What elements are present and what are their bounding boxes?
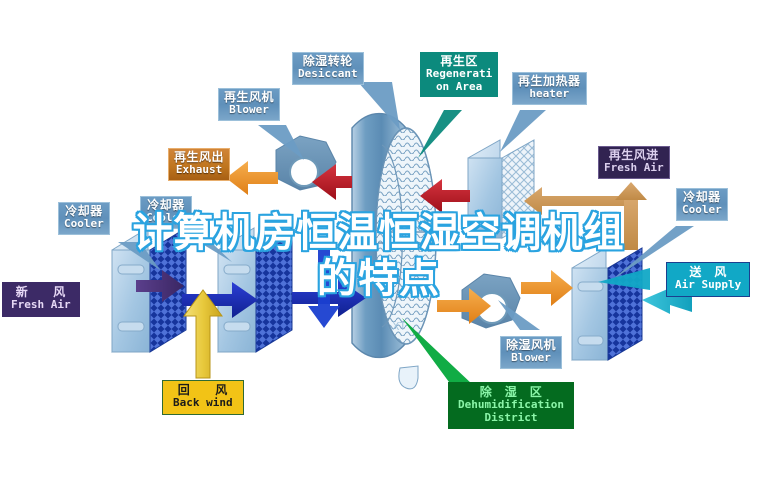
label-back-wind-en: Back wind [173, 397, 233, 409]
label-regeneration-heater: 再生加热器 heater [512, 72, 587, 105]
label-regeneration-fresh-air-cn: 再生风进 [604, 149, 664, 162]
label-cooler-left-1-cn: 冷却器 [64, 205, 104, 218]
diagram-artwork: XT [0, 0, 757, 488]
label-dehumidification-blower-cn: 除湿风机 [506, 339, 556, 352]
svg-text:XT: XT [392, 320, 406, 333]
label-air-supply-en: Air Supply [675, 279, 741, 291]
label-fresh-air: 新 风 Fresh Air [2, 282, 80, 317]
label-dehumidification-district-en2: District [458, 412, 564, 424]
label-regeneration-heater-en: heater [518, 88, 581, 100]
cooler-coil-left-2 [218, 228, 292, 352]
label-back-wind-cn: 回 风 [173, 384, 233, 397]
label-cooler-left-2-en: Cooler [146, 212, 186, 224]
arrow-vertical-blue [308, 246, 340, 328]
label-cooler-left-2: 冷却器 Cooler [140, 196, 192, 229]
label-regeneration-heater-cn: 再生加热器 [518, 75, 581, 88]
label-cooler-right-cn: 冷却器 [682, 191, 722, 204]
label-desiccant-en: Desiccant [298, 68, 358, 80]
label-cooler-right-en: Cooler [682, 204, 722, 216]
label-back-wind: 回 风 Back wind [162, 380, 244, 415]
label-regeneration-exhaust-cn: 再生风出 [174, 151, 224, 164]
arrow-orange-blower-to-coil [521, 270, 573, 306]
label-regeneration-blower-cn: 再生风机 [224, 91, 274, 104]
label-dehumidification-district: 除 湿 区 Dehumidification District [448, 382, 574, 429]
diagram-canvas: XT [0, 0, 757, 488]
label-regeneration-exhaust-en: Exhaust [174, 164, 224, 176]
label-dehumidification-blower: 除湿风机 Blower [500, 336, 562, 369]
label-air-supply-cn: 送 风 [675, 266, 741, 279]
label-regeneration-area-cn: 再生区 [426, 55, 492, 68]
label-regeneration-fresh-air: 再生风进 Fresh Air [598, 146, 670, 179]
label-cooler-left-2-cn: 冷却器 [146, 199, 186, 212]
arrow-tan-regen-fresh-in [524, 187, 632, 215]
desiccant-rotor-wheel: XT [352, 114, 436, 389]
arrow-orange-to-exhaust [226, 161, 278, 195]
label-desiccant: 除湿转轮 Desiccant [292, 52, 364, 85]
label-regeneration-exhaust: 再生风出 Exhaust [168, 148, 230, 181]
regeneration-heater-block [468, 140, 534, 238]
arrow-tan-regen-riser [615, 182, 647, 250]
label-cooler-right: 冷却器 Cooler [676, 188, 728, 221]
label-dehumidification-district-cn: 除 湿 区 [458, 386, 564, 399]
label-regeneration-blower: 再生风机 Blower [218, 88, 280, 121]
label-regeneration-blower-en: Blower [224, 104, 274, 116]
label-dehumidification-district-en: Dehumidification [458, 399, 564, 411]
label-desiccant-cn: 除湿转轮 [298, 55, 358, 68]
label-fresh-air-en: Fresh Air [11, 299, 71, 311]
label-air-supply: 送 风 Air Supply [666, 262, 750, 297]
label-regeneration-area-en: Regenerati [426, 68, 492, 80]
label-regeneration-area-en2: on Area [426, 81, 492, 93]
label-cooler-left-1: 冷却器 Cooler [58, 202, 110, 235]
label-regeneration-area: 再生区 Regenerati on Area [420, 52, 498, 97]
label-dehumidification-blower-en: Blower [506, 352, 556, 364]
label-fresh-air-cn: 新 风 [11, 286, 71, 299]
label-cooler-left-1-en: Cooler [64, 218, 104, 230]
label-regeneration-fresh-air-en: Fresh Air [604, 162, 664, 174]
